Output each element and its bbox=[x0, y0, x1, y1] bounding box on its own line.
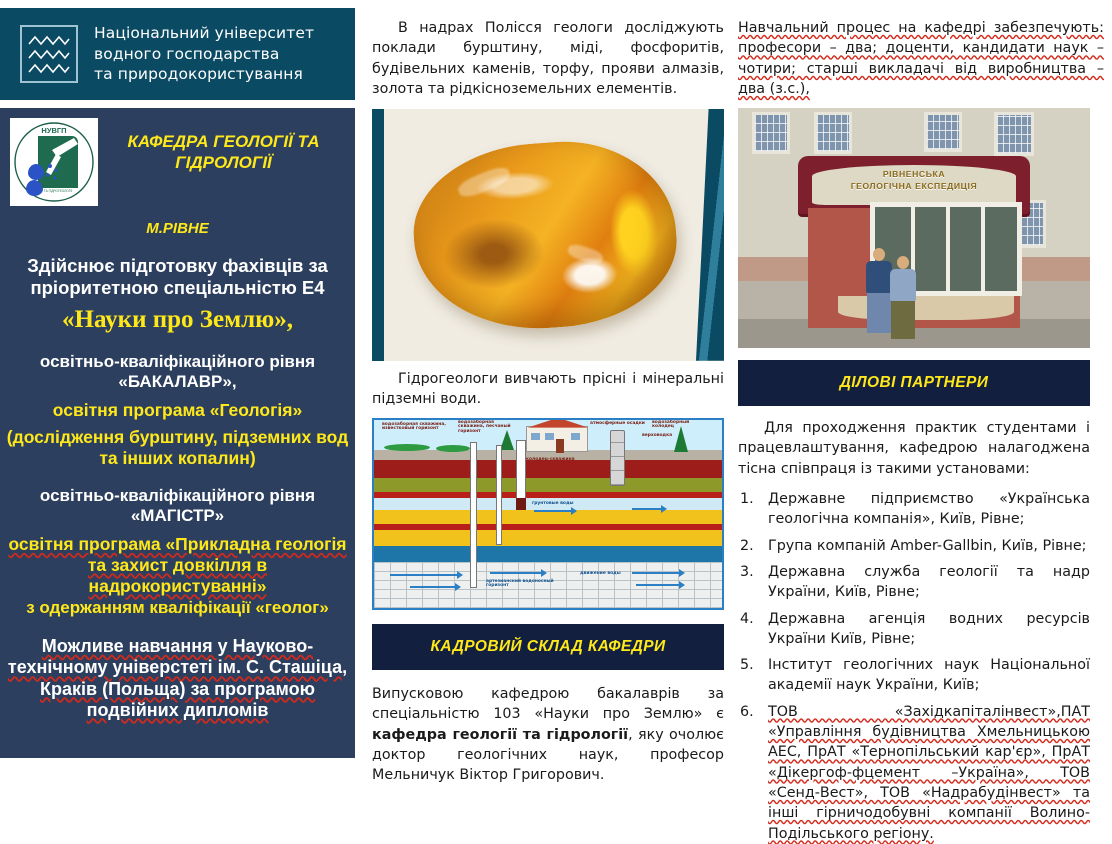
diagram-bush bbox=[384, 444, 430, 451]
list-item-text: ТОВ «Західкапіталінвест»,ПАТ «Управління… bbox=[768, 704, 1090, 842]
staff-section-header: КАДРОВИЙ СКЛАД КАФЕДРИ bbox=[372, 624, 724, 670]
person-legs bbox=[891, 301, 915, 339]
diagram-label: водозаборная скважина, известковый гориз… bbox=[382, 423, 450, 433]
flow-arrow bbox=[410, 586, 456, 588]
building-steps bbox=[838, 296, 1014, 320]
diagram-label: атмосферные осадки bbox=[590, 422, 646, 427]
department-panel: НУВГП КАФЕДРА ІНЖЕНЕРНОЇ ГЕОЛОГІЇ ТА ГІД… bbox=[0, 108, 355, 758]
amber-stone-shape bbox=[408, 134, 682, 337]
department-intro: Здійснює підготовку фахівців за пріорите… bbox=[10, 255, 345, 299]
amber-highlight bbox=[456, 163, 513, 200]
svg-text:ТА ГІДРОГЕОЛОГІЇ: ТА ГІДРОГЕОЛОГІЇ bbox=[44, 189, 73, 193]
partners-section-header: ДІЛОВІ ПАРТНЕРИ bbox=[738, 360, 1090, 406]
water-waves-icon bbox=[20, 25, 78, 83]
university-name: Національний університет водного господа… bbox=[94, 23, 314, 85]
diagram-bush bbox=[436, 445, 470, 452]
building-canopy-inner: РІВНЕНСЬКА ГЕОЛОГІЧНА ЕКСПЕДИЦІЯ bbox=[812, 165, 1016, 205]
bachelor-program-note: (дослідження бурштину, підземних вод та … bbox=[6, 427, 349, 468]
poster-page: Національний університет водного господа… bbox=[0, 0, 1112, 758]
strata-aquifer-blue bbox=[374, 546, 722, 562]
list-item: ТОВ «Західкапіталінвест»,ПАТ «Управління… bbox=[738, 702, 1090, 844]
department-title: КАФЕДРА ГЕОЛОГІЇ ТА ГІДРОЛОГІЇ bbox=[98, 118, 347, 173]
diagram-label: движение воды bbox=[580, 572, 626, 577]
department-specialty: «Науки про Землю», bbox=[6, 305, 349, 335]
master-qualification: з одержанням кваліфікації «геолог» bbox=[6, 598, 349, 618]
person-head bbox=[873, 248, 885, 261]
diagram-label: колодец-скважина bbox=[526, 458, 584, 463]
staff-text-bold: кафедра геології та гідрології bbox=[372, 727, 628, 743]
photo-left-bar bbox=[372, 109, 384, 361]
strata-green bbox=[374, 478, 722, 492]
partners-list: Державне підприємство «Українська геолог… bbox=[738, 489, 1090, 844]
well-sand bbox=[496, 445, 502, 545]
building-window bbox=[814, 112, 852, 154]
hydrogeology-cross-section-diagram: водозаборная скважина, известковый гориз… bbox=[372, 418, 724, 610]
flow-arrow bbox=[636, 584, 680, 586]
master-program: освітня програма «Прикладна геологія та … bbox=[6, 534, 349, 596]
person-head bbox=[897, 256, 909, 269]
diagram-label: верховодка bbox=[642, 434, 680, 439]
flow-arrow bbox=[490, 572, 542, 574]
person-body bbox=[866, 261, 892, 293]
master-level: освітньо-кваліфікаційного рівня «МАГІСТР… bbox=[8, 486, 347, 526]
teaching-staff-paragraph: Навчальний процес на кафедрі забезпечуют… bbox=[738, 18, 1104, 100]
photo-right-wedge bbox=[696, 109, 724, 361]
diagram-house-window bbox=[531, 433, 540, 440]
middle-column: В надрах Полісся геологи досліджують пок… bbox=[372, 0, 724, 758]
bachelor-level: освітньо-кваліфікаційного рівня «БАКАЛАВ… bbox=[8, 352, 347, 392]
diagram-label: водозаборный колодец bbox=[652, 421, 696, 431]
diagram-label: грунтовые воды bbox=[532, 502, 580, 507]
list-item: Державна служба геології та надр України… bbox=[738, 562, 1090, 603]
list-item: Інститут геологічних наук Національної а… bbox=[738, 655, 1090, 696]
bachelor-program: освітня програма «Геологія» bbox=[6, 400, 349, 421]
teaching-staff-text: Навчальний процес на кафедрі забезпечуют… bbox=[738, 20, 1104, 97]
diagram-house bbox=[526, 426, 588, 452]
flow-arrow bbox=[534, 510, 572, 512]
diagram-label: водозаборная скважина, песчаный горизонт bbox=[458, 421, 518, 436]
person-legs bbox=[867, 293, 891, 333]
staff-text-part1: Випусковою кафедрою бакалаврів за спеціа… bbox=[372, 686, 724, 722]
building-window bbox=[752, 112, 790, 154]
department-emblem-icon: НУВГП КАФЕДРА ІНЖЕНЕРНОЇ ГЕОЛОГІЇ ТА ГІД… bbox=[10, 118, 98, 206]
list-item: Державне підприємство «Українська геолог… bbox=[738, 489, 1090, 530]
diagram-label: артезианский водоносный горизонт bbox=[486, 580, 554, 590]
strata-sand-yellow bbox=[374, 510, 722, 524]
building-sign-line1: РІВНЕНСЬКА bbox=[812, 168, 1016, 180]
master-program-text: освітня програма «Прикладна геологія та … bbox=[8, 534, 346, 595]
geological-expedition-building-photo: РІВНЕНСЬКА ГЕОЛОГІЧНА ЕКСПЕДИЦІЯ bbox=[738, 108, 1090, 348]
exchange-program-text: Можливе навчання у Науково-технічному ун… bbox=[8, 636, 347, 720]
person-left bbox=[866, 248, 892, 333]
water-intake-well bbox=[610, 430, 625, 486]
right-column: Навчальний процес на кафедрі забезпечуют… bbox=[738, 0, 1104, 758]
building-sign: РІВНЕНСЬКА ГЕОЛОГІЧНА ЕКСПЕДИЦІЯ bbox=[812, 168, 1016, 193]
department-header-row: НУВГП КАФЕДРА ІНЖЕНЕРНОЇ ГЕОЛОГІЇ ТА ГІД… bbox=[0, 108, 355, 206]
amber-highlight bbox=[566, 242, 605, 266]
amber-stone-photo bbox=[372, 109, 724, 361]
flow-arrow bbox=[632, 572, 680, 574]
flow-arrow bbox=[390, 574, 458, 576]
person-body bbox=[890, 269, 916, 301]
diagram-house-window bbox=[571, 433, 580, 440]
resources-paragraph: В надрах Полісся геологи досліджують пок… bbox=[372, 18, 724, 100]
hydrogeology-paragraph: Гідрогеологи вивчають прісні і мінеральн… bbox=[372, 369, 724, 410]
list-item: Група компаній Amber-Gallbin, Київ, Рівн… bbox=[738, 536, 1090, 556]
strata-sand-yellow2 bbox=[374, 530, 722, 546]
list-item: Державна агенція водних ресурсів України… bbox=[738, 609, 1090, 650]
flow-arrow bbox=[632, 508, 662, 510]
university-header: Національний університет водного господа… bbox=[0, 8, 355, 100]
department-city: М.РІВНЕ bbox=[0, 220, 355, 237]
building-window bbox=[924, 112, 962, 152]
left-column: Національний університет водного господа… bbox=[0, 0, 355, 758]
exchange-program: Можливе навчання у Науково-технічному ун… bbox=[6, 636, 349, 721]
building-sign-line2: ГЕОЛОГІЧНА ЕКСПЕДИЦІЯ bbox=[812, 180, 1016, 192]
well-limestone bbox=[470, 442, 477, 588]
well-borehole-bottom bbox=[516, 498, 526, 510]
person-right bbox=[890, 256, 916, 339]
partners-intro: Для проходження практик студентами і пра… bbox=[738, 418, 1090, 479]
svg-text:НУВГП: НУВГП bbox=[41, 126, 66, 135]
building-window bbox=[994, 112, 1034, 156]
diagram-house-door bbox=[556, 439, 564, 453]
door-divider bbox=[946, 207, 950, 291]
door-divider bbox=[981, 207, 985, 291]
staff-paragraph: Випусковою кафедрою бакалаврів за спеціа… bbox=[372, 684, 724, 786]
diagram-house-window bbox=[545, 433, 554, 440]
